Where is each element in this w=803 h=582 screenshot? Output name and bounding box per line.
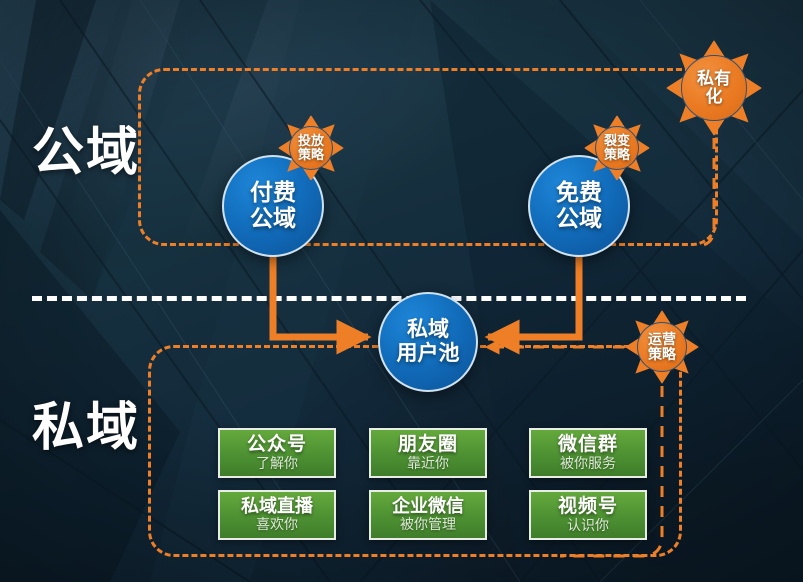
node-paid-public-domain-label: 付费 公域 (250, 180, 296, 232)
channel-card-subtitle: 被你服务 (560, 456, 616, 471)
channel-card-subtitle: 被你管理 (400, 517, 456, 532)
channel-card[interactable]: 视频号 认识你 (529, 490, 647, 540)
node-free-public-domain-label: 免费 公域 (556, 180, 602, 232)
channel-card-subtitle: 了解你 (256, 456, 298, 471)
section-label-private-domain: 私域 (26, 400, 146, 456)
badge-privatization-label: 私有 化 (697, 70, 731, 107)
badge-operations-strategy-label: 运营 策略 (648, 332, 676, 362)
channel-card[interactable]: 私域直播 喜欢你 (218, 490, 336, 540)
channel-card-title: 私域直播 (241, 497, 313, 516)
node-private-user-pool-label: 私域 用户池 (397, 318, 460, 365)
channel-card-subtitle: 喜欢你 (256, 517, 298, 532)
badge-fission-strategy[interactable]: 裂变 策略 (584, 115, 650, 181)
channel-card[interactable]: 微信群 被你服务 (529, 428, 647, 478)
channel-card-title: 朋友圈 (398, 435, 458, 455)
badge-operations-strategy[interactable]: 运营 策略 (625, 310, 699, 384)
section-label-public-domain: 公域 (26, 125, 146, 181)
channel-card-title: 企业微信 (392, 497, 464, 516)
diagram-canvas: 公域 私域 付费 公域 免费 公域 私域 用户池 投放 策略 裂变 策略 私有 … (0, 0, 803, 582)
channel-card[interactable]: 朋友圈 靠近你 (369, 428, 487, 478)
channel-card-title: 微信群 (558, 435, 618, 455)
node-private-user-pool[interactable]: 私域 用户池 (378, 292, 478, 392)
arrow-free-to-pool (488, 252, 579, 337)
arrow-paid-to-pool (273, 252, 368, 337)
channel-card-subtitle: 靠近你 (407, 456, 449, 471)
channel-card-subtitle: 认识你 (567, 518, 609, 533)
channel-card-title: 公众号 (247, 435, 307, 455)
dashed-privatization-link (696, 138, 714, 246)
badge-delivery-strategy[interactable]: 投放 策略 (278, 115, 344, 181)
channel-card-title: 视频号 (558, 497, 618, 517)
badge-privatization[interactable]: 私有 化 (666, 40, 762, 136)
channel-card[interactable]: 企业微信 被你管理 (369, 490, 487, 540)
channel-card[interactable]: 公众号 了解你 (218, 428, 336, 478)
badge-delivery-strategy-label: 投放 策略 (298, 134, 324, 162)
badge-fission-strategy-label: 裂变 策略 (604, 134, 630, 162)
